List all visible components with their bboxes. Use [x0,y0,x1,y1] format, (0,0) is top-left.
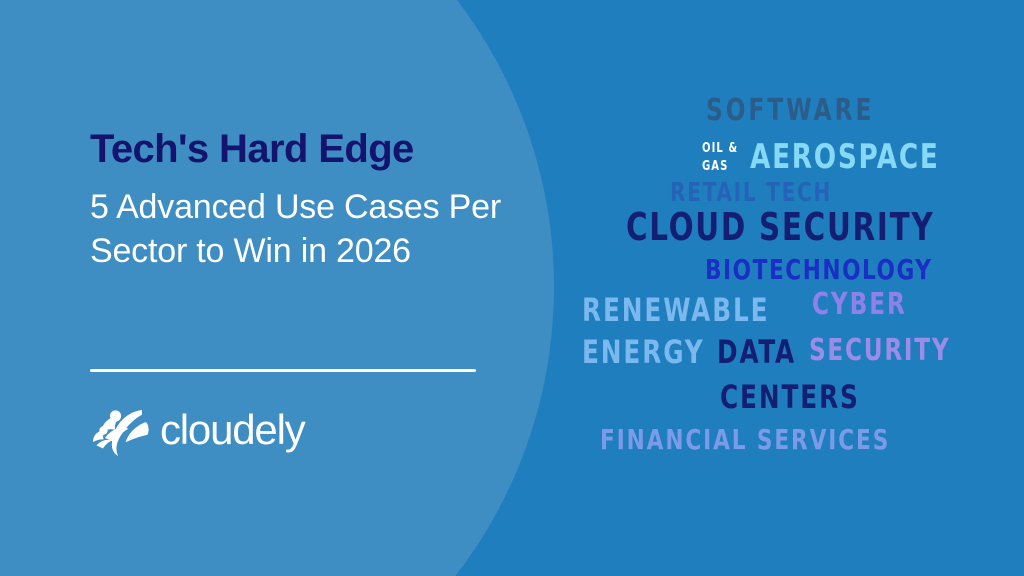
cloudely-swoosh-icon [90,402,152,458]
logo-wordmark: cloudely [160,409,305,451]
wordcloud-term-cloud-security: CLOUD SECURITY [626,208,934,246]
background-accent-circle [0,0,554,576]
wordcloud-term-gas: GAS [702,160,728,173]
wordcloud-term-data: DATA [717,336,796,368]
wordcloud-term-renewable: RENEWABLE [582,294,769,326]
brand-logo: cloudely [90,402,305,458]
wordcloud-term-aerospace: AEROSPACE [750,140,940,174]
divider-rule [90,369,476,372]
wordcloud-term-oil: OIL & [702,142,738,155]
slide-canvas: Tech's Hard Edge 5 Advanced Use Cases Pe… [0,0,1024,576]
wordcloud-term-security: SECURITY [809,336,950,366]
left-text-column: Tech's Hard Edge 5 Advanced Use Cases Pe… [90,128,520,274]
sector-word-cloud: SOFTWAREOIL &GASAEROSPACERETAIL TECHCLOU… [560,86,1008,466]
wordcloud-term-retail-tech: RETAIL TECH [670,180,832,206]
page-title: Tech's Hard Edge [90,128,520,171]
wordcloud-term-centers: CENTERS [720,381,860,413]
wordcloud-term-energy: ENERGY [582,336,705,368]
wordcloud-term-software: SOFTWARE [706,96,874,126]
wordcloud-term-cyber: CYBER [812,290,907,320]
page-subtitle: 5 Advanced Use Cases Per Sector to Win i… [90,185,520,273]
wordcloud-term-biotechnology: BIOTECHNOLOGY [705,256,933,284]
wordcloud-term-financial-services: FINANCIAL SERVICES [600,426,890,454]
